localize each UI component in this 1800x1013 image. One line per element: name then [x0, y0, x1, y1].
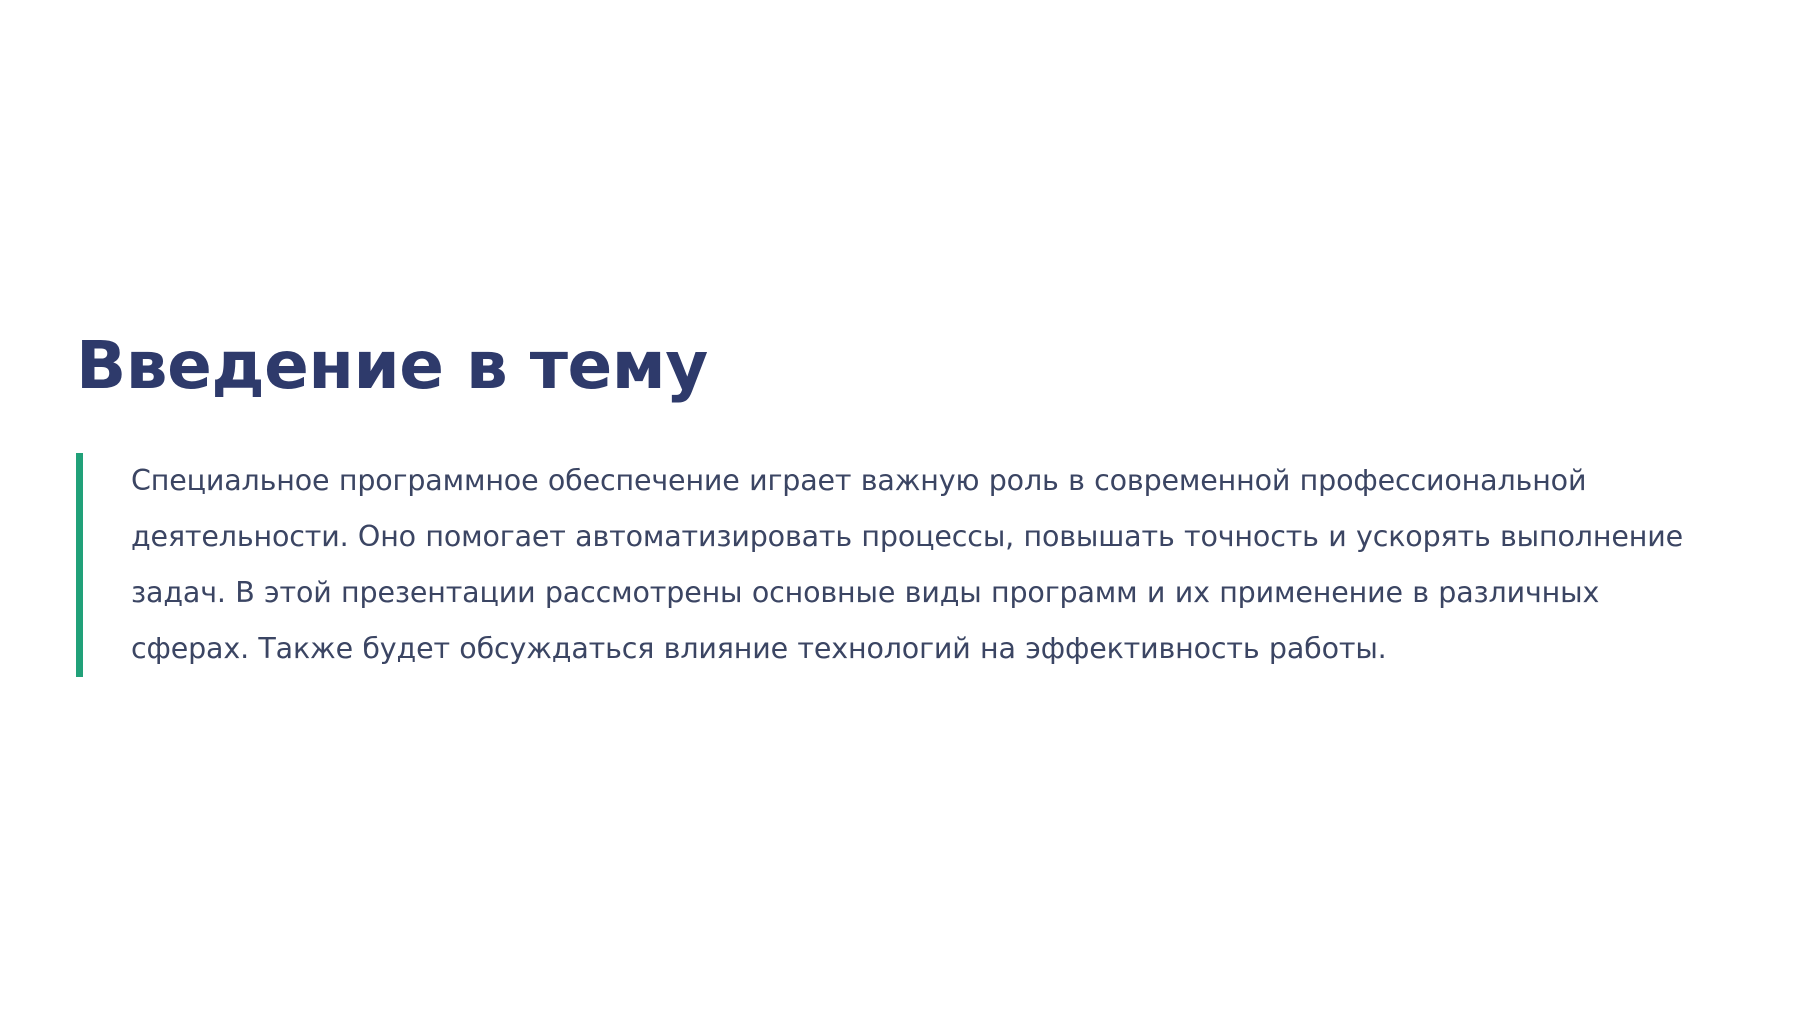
presentation-slide: Введение в тему Специальное программное … [0, 0, 1800, 1013]
slide-body-paragraph: Специальное программное обеспечение игра… [131, 453, 1721, 677]
body-text-container: Специальное программное обеспечение игра… [76, 453, 1736, 677]
page-title: Введение в тему [76, 330, 1736, 401]
slide-content-block: Введение в тему Специальное программное … [76, 330, 1736, 677]
accent-bar [76, 453, 83, 677]
